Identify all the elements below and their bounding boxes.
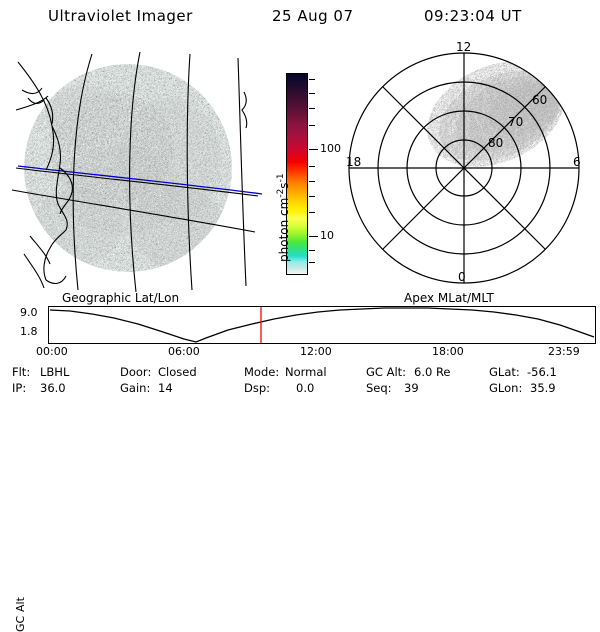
status-seq-value: 39 <box>404 381 419 395</box>
gc-alt-xtick-1800: 18:00 <box>432 345 464 358</box>
status-glat-label: GLat: <box>489 365 520 379</box>
colorbar-axis-label: photon cm-2s-1 <box>276 173 291 262</box>
apex-dial-panel[interactable]: 12 18 6 0 60 70 80 <box>348 42 600 294</box>
status-ip-value: 36.0 <box>40 381 66 395</box>
colorbar-tick-100: 100 <box>320 142 341 155</box>
mlt-label-18: 18 <box>346 155 361 169</box>
colorbar-unit-s: s <box>277 182 291 188</box>
status-gain-label: Gain: <box>120 381 150 395</box>
gc-alt-xtick-0000: 00:00 <box>36 345 68 358</box>
status-mode-value: Normal <box>285 365 327 379</box>
gc-alt-plot-area <box>48 306 596 344</box>
instrument-title: Ultraviolet Imager <box>48 7 193 25</box>
status-flt-value: LBHL <box>40 365 69 379</box>
mlt-label-0: 0 <box>458 270 466 284</box>
observation-date: 25 Aug 07 <box>272 7 354 25</box>
gc-alt-xtick-2359: 23:59 <box>548 345 580 358</box>
status-gcalt-value: 6.0 Re <box>414 365 451 379</box>
status-glat-value: -56.1 <box>527 365 557 379</box>
gc-alt-xtick-1200: 12:00 <box>300 345 332 358</box>
observation-time: 09:23:04 UT <box>424 7 522 25</box>
status-flt-label: Flt: <box>12 365 30 379</box>
mlat-label-60: 60 <box>532 93 547 107</box>
gc-alt-ylabel-line1: GC <box>14 616 27 632</box>
colorbar-exp-minus2: -2 <box>276 189 286 198</box>
status-bar: Flt: LBHL Door: Closed Mode: Normal GC A… <box>0 365 600 399</box>
gc-alt-ytick-top: 9.0 <box>20 306 38 319</box>
mlt-spokes <box>349 53 579 283</box>
gc-alt-ylabel-line2: Alt <box>14 597 27 612</box>
status-ip-label: IP: <box>12 381 26 395</box>
mlt-label-6: 6 <box>573 155 581 169</box>
status-mode-label: Mode: <box>244 365 279 379</box>
colorbar-exp-minus1: -1 <box>276 173 286 182</box>
status-door-value: Closed <box>158 365 197 379</box>
status-gain-value: 14 <box>158 381 173 395</box>
status-seq-label: Seq: <box>366 381 392 395</box>
mlat-label-70: 70 <box>508 115 523 129</box>
gc-alt-xtick-0600: 06:00 <box>168 345 200 358</box>
geographic-image-panel[interactable] <box>0 40 265 295</box>
gc-alt-ytick-bottom: 1.8 <box>20 325 38 338</box>
status-glon-label: GLon: <box>489 381 522 395</box>
status-door-label: Door: <box>120 365 151 379</box>
gc-alt-timeseries-panel[interactable]: GC Alt 9.0 1.8 00:00 06:00 12:00 18:00 2… <box>0 300 600 358</box>
mlat-label-80: 80 <box>488 136 503 150</box>
mlt-label-12: 12 <box>456 40 471 54</box>
status-gcalt-label: GC Alt: <box>366 365 406 379</box>
status-dsp-label: Dsp: <box>244 381 270 395</box>
colorbar-tick-10: 10 <box>320 229 334 242</box>
status-dsp-value: 0.0 <box>296 381 314 395</box>
status-glon-value: 35.9 <box>530 381 556 395</box>
colorbar-unit-photon: photon cm <box>277 198 291 262</box>
